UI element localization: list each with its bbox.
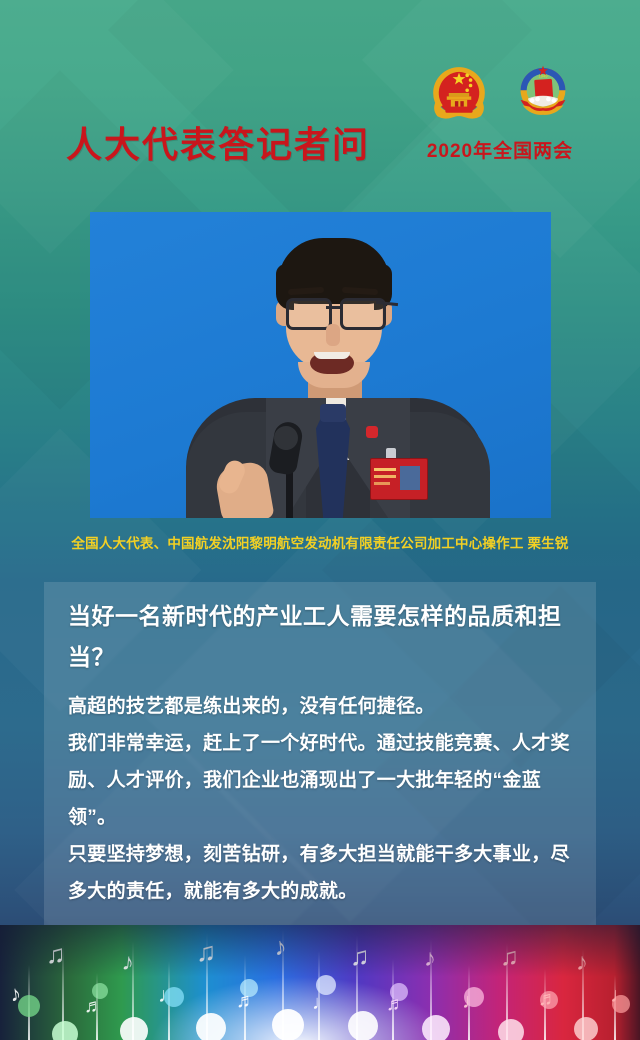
answer-list: 高超的技艺都是练出来的，没有任何捷径。我们非常幸运，赶上了一个好时代。通过技能竞… [68, 688, 578, 910]
photo-glasses-bridge [326, 306, 340, 309]
music-note-icon: ♫ [46, 941, 66, 967]
photo-nose [326, 324, 340, 346]
answer-paragraph: 高超的技艺都是练出来的，没有任何捷径。 [68, 688, 578, 725]
svg-text:1949: 1949 [538, 73, 548, 78]
music-note-icon: ♫ [500, 945, 519, 970]
music-note-icon: ♩ [158, 985, 179, 1006]
cppcc-emblem-icon: 1949 [509, 59, 577, 127]
music-note-icon: ♬ [84, 997, 103, 1016]
music-note-icon: ♬ [386, 995, 405, 1014]
music-note-icon: ♩ [610, 985, 631, 1006]
photo-badge-portrait [400, 466, 420, 490]
music-note-icon: ♬ [538, 989, 558, 1009]
photo-glasses-left-lens [286, 298, 332, 330]
content-panel: 当好一名新时代的产业工人需要怎样的品质和担当？ 高超的技艺都是练出来的，没有任何… [44, 582, 596, 952]
national-emblem-china-icon [425, 59, 493, 127]
answer-paragraph: 只要坚持梦想，刻苦钻研，有多大担当就能干多大事业，尽多大的责任，就能有多大的成就… [68, 836, 578, 910]
photo-necktie-knot [320, 404, 346, 422]
page-title: 人大代表答记者问 [66, 116, 370, 168]
music-note-icon: ♩ [312, 993, 332, 1013]
music-notes-footer: ♪ ♫ ♬ ♪ ♩ ♫ ♬ ♪ ♩ ♫ ♬ ♪ ♩ ♫ ♬ ♪ ♩ [0, 925, 640, 1040]
music-note-icon: ♪ [121, 950, 135, 975]
answer-paragraph: 我们非常幸运，赶上了一个好时代。通过技能竞赛、人才奖励、人才评价，我们企业也涌现… [68, 725, 578, 836]
music-note-icon: ♪ [424, 947, 436, 971]
meeting-label: 2020年全国两会 [410, 136, 590, 163]
photo-badge-text-line [374, 468, 396, 471]
music-note-icon: ♬ [236, 991, 256, 1011]
photo-teeth [314, 352, 350, 359]
music-note-icon: ♫ [350, 943, 370, 969]
poster-header: 人大代表答记者问 [0, 0, 640, 200]
music-note-icon: ♪ [273, 934, 288, 960]
question-text: 当好一名新时代的产业工人需要怎样的品质和担当？ [68, 596, 578, 678]
photo-badge-text-line [374, 482, 390, 485]
music-note-icon: ♩ [462, 991, 483, 1012]
music-note-icon: ♫ [196, 939, 216, 966]
music-note-icon: ♪ [9, 982, 23, 1005]
photo-caption: 全国人大代表、中国航发沈阳黎明航空发动机有限责任公司加工中心操作工 栗生锐 [0, 532, 640, 552]
photo-party-pin [366, 426, 378, 438]
photo-badge-text-line [374, 475, 396, 478]
emblem-group: 1949 [416, 58, 586, 128]
music-note-icon: ♪ [576, 951, 588, 975]
poster-root: 人大代表答记者问 [0, 0, 640, 1040]
speaker-photo [90, 212, 551, 518]
